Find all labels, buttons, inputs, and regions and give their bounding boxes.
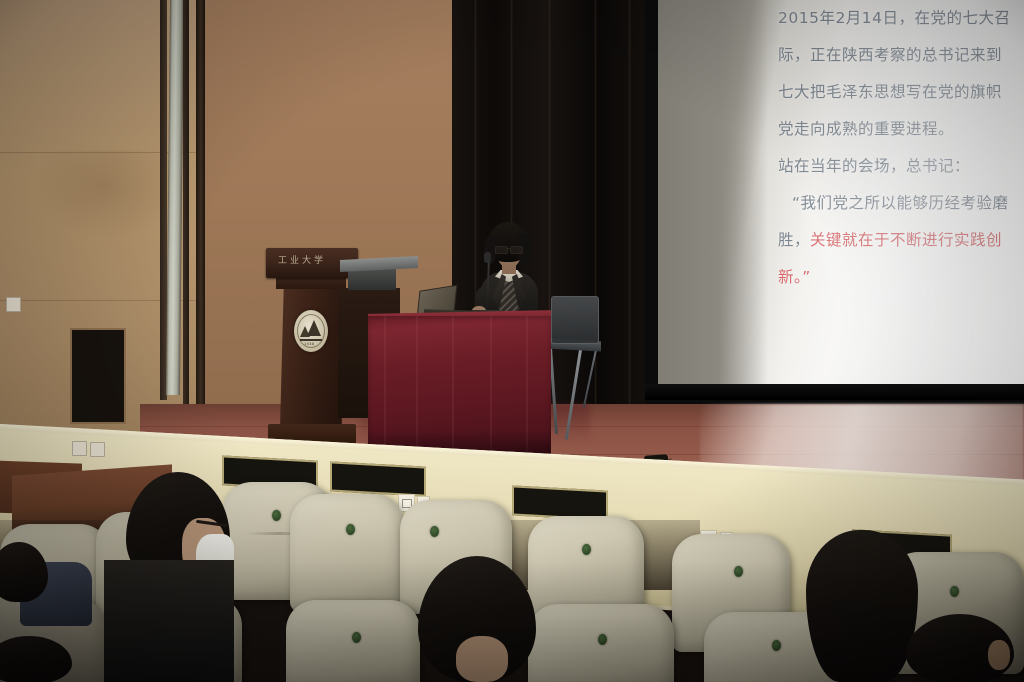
audience-hair xyxy=(0,636,72,682)
pilaster-dark-strip-3 xyxy=(196,0,205,432)
slide-line-7: 胜，关键就在于不断进行实践创 xyxy=(778,222,1024,259)
university-crest-icon: 1938 xyxy=(294,310,328,352)
slide-line-4: 党走向成熟的重要进程。 xyxy=(778,111,1024,148)
seat[interactable] xyxy=(528,604,674,682)
power-outlet[interactable] xyxy=(90,442,105,457)
seat[interactable] xyxy=(290,494,404,612)
slide-line-5: 站在当年的会场，总书记： xyxy=(778,148,1024,185)
audience-face xyxy=(452,636,512,682)
crest-year: 1938 xyxy=(304,341,315,346)
audience-ear xyxy=(988,640,1010,670)
audience-hair xyxy=(806,530,918,682)
seat[interactable] xyxy=(286,600,420,682)
fascia-vent xyxy=(330,461,426,496)
slide-line-7-plain: 胜， xyxy=(778,231,810,249)
slide-line-7-highlight: 关键就在于不断进行实践创 xyxy=(810,231,1002,249)
screen-unlit-area xyxy=(658,0,768,388)
audience-hair xyxy=(0,542,48,602)
av-table-leg xyxy=(348,268,396,290)
audience-member xyxy=(0,636,72,682)
audience-torso xyxy=(104,560,234,682)
slide-line-3: 七大把毛泽东思想写在党的旗帜 xyxy=(778,74,1024,111)
wall-smudge xyxy=(30,150,180,240)
slide-line-1: 2015年2月14日，在党的七大召 xyxy=(778,0,1024,37)
slide-line-6: “我们党之所以能够历经考验磨 xyxy=(778,185,1024,222)
speaker-grille-icon xyxy=(70,328,126,424)
slide-text-block: 2015年2月14日，在党的七大召 际，正在陕西考察的总书记来到 七大把毛泽东思… xyxy=(778,0,1024,296)
microphone-icon xyxy=(484,252,491,263)
pilaster-dark-strip-2 xyxy=(183,0,189,405)
screen-bottom-frame xyxy=(645,384,1024,400)
power-outlet[interactable] xyxy=(72,441,87,456)
lectern-column xyxy=(280,288,342,428)
audience-member xyxy=(0,542,48,602)
folding-chair xyxy=(551,296,599,344)
glasses-icon xyxy=(495,246,523,252)
lectern-engraved-text: 工业大学 xyxy=(278,253,326,266)
lectern-neck xyxy=(276,277,346,289)
projection-screen: 2015年2月14日，在党的七大召 际，正在陕西考察的总书记来到 七大把毛泽东思… xyxy=(645,0,1024,404)
audience-member xyxy=(806,530,918,682)
slide-line-2: 际，正在陕西考察的总书记来到 xyxy=(778,37,1024,74)
lecture-hall-photo: 2015年2月14日，在党的七大召 际，正在陕西考察的总书记来到 七大把毛泽东思… xyxy=(0,0,1024,682)
slide-line-8: 新。” xyxy=(778,259,1024,296)
power-outlet[interactable] xyxy=(6,297,21,312)
